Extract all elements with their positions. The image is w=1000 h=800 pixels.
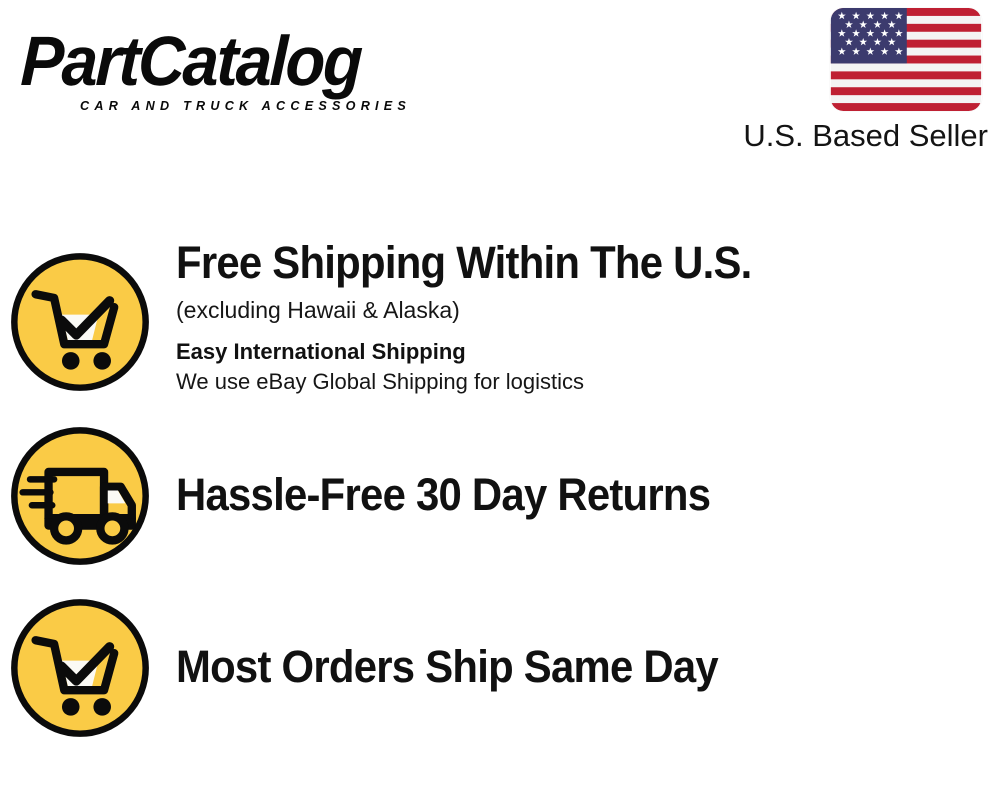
feature-icon-wrapper [0,412,160,570]
feature-text-free-shipping: Free Shipping Within The U.S. (excluding… [160,238,1000,397]
brand-tagline: CAR AND TRUCK ACCESSORIES [80,98,411,113]
feature-headline: Most Orders Ship Same Day [176,642,942,692]
delivery-truck-icon [6,422,154,570]
feature-row-free-shipping: Free Shipping Within The U.S. (excluding… [0,238,1000,413]
feature-row-returns: Hassle-Free 30 Day Returns [0,412,1000,582]
shopping-cart-check-icon [6,594,154,742]
brand-wordmark: PartCatalog [20,24,460,98]
promo-banner: PartCatalog CAR AND TRUCK ACCESSORIES [0,0,1000,800]
us-flag-icon [830,8,982,111]
feature-subhead-regular: We use eBay Global Shipping for logistic… [176,367,1000,397]
feature-subhead-bold: Easy International Shipping [176,337,1000,366]
us-based-seller-badge: U.S. Based Seller [720,8,990,155]
feature-icon-wrapper [0,584,160,742]
feature-headline: Free Shipping Within The U.S. [176,238,942,288]
us-based-seller-label: U.S. Based Seller [720,117,988,155]
feature-headline: Hassle-Free 30 Day Returns [176,470,942,520]
feature-row-same-day: Most Orders Ship Same Day [0,584,1000,754]
feature-icon-wrapper [0,238,160,396]
feature-text-returns: Hassle-Free 30 Day Returns [160,412,1000,520]
feature-text-same-day: Most Orders Ship Same Day [160,584,1000,692]
shopping-cart-check-icon [6,248,154,396]
partcatalog-logo: PartCatalog CAR AND TRUCK ACCESSORIES [22,24,492,116]
feature-subline: (excluding Hawaii & Alaska) [176,295,1000,325]
banner-header: PartCatalog CAR AND TRUCK ACCESSORIES [0,0,1000,170]
